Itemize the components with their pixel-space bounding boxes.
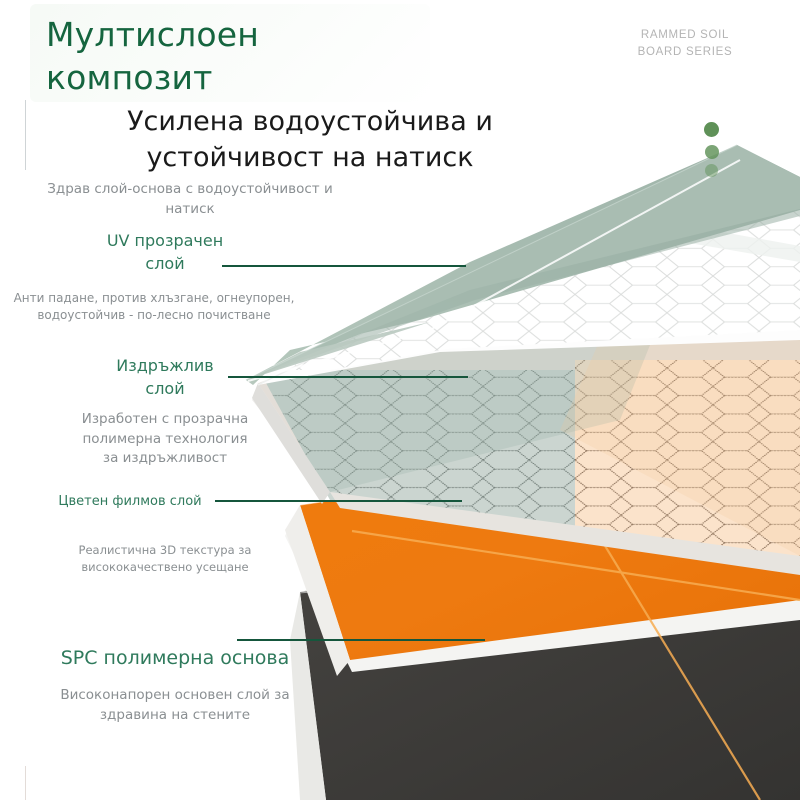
callout-wear-base-description: Здрав слой-основа с водоустойчивост и на…	[10, 180, 370, 219]
series-caption-line-1: RAMMED SOIL	[610, 27, 760, 44]
callout-uv-label: UV прозрачен слой	[20, 230, 310, 275]
poster-canvas: Мултислоен композит RAMMED SOIL BOARD SE…	[0, 0, 800, 800]
decor-dot-2	[705, 145, 719, 159]
durable-desc-line-2: полимерна технология	[20, 430, 310, 450]
color-film-desc-line-2: висококачествено усещане	[20, 559, 310, 576]
series-caption: RAMMED SOIL BOARD SERIES	[610, 27, 760, 60]
page-title-line-1: Мултислоен	[46, 14, 406, 57]
series-caption-line-2: BOARD SERIES	[610, 44, 760, 61]
page-subtitle-line-1: Усилена водоустойчива и	[40, 104, 580, 140]
callout-spc-label: SPC полимерна основа	[10, 645, 340, 672]
leader-line-durable	[228, 376, 468, 378]
color-film-desc-line-1: Реалистична 3D текстура за	[20, 542, 310, 559]
durable-desc-line-1: Изработен с прозрачна	[20, 410, 310, 430]
color-film-label-line-1: Цветен филмов слой	[10, 493, 250, 511]
spc-label-line-1: SPC полимерна основа	[10, 645, 340, 672]
decor-dot-3	[705, 164, 718, 177]
callout-durable-description: Изработен с прозрачна полимерна технолог…	[20, 410, 310, 469]
page-title-line-2: композит	[46, 57, 406, 100]
durable-desc-line-3: за издръжливост	[20, 449, 310, 469]
durable-label-line-1: Издръжлив	[20, 355, 310, 378]
decor-dot-1	[704, 122, 719, 137]
uv-desc-line-2: водоустойчив - по-лесно почистване	[4, 307, 304, 324]
uv-desc-line-1: Анти падане, против хлъзгане, огнеупорен…	[4, 290, 304, 307]
callout-color-film-label: Цветен филмов слой	[10, 493, 250, 511]
accent-rule-bottom	[25, 766, 26, 800]
callout-uv-description: Анти падане, против хлъзгане, огнеупорен…	[4, 290, 304, 325]
wear-base-desc-line-1: Здрав слой-основа с водоустойчивост и	[10, 180, 370, 200]
page-title: Мултислоен композит	[46, 14, 406, 100]
uv-label-line-1: UV прозрачен	[20, 230, 310, 253]
durable-label-line-2: слой	[20, 378, 310, 401]
page-subtitle: Усилена водоустойчива и устойчивост на н…	[40, 104, 580, 176]
spc-desc-line-2: здравина на стените	[10, 706, 340, 726]
spc-desc-line-1: Високонапорен основен слой за	[10, 686, 340, 706]
page-subtitle-line-2: устойчивост на натиск	[40, 140, 580, 176]
callout-color-film-description: Реалистична 3D текстура за висококачеств…	[20, 542, 310, 575]
leader-line-uv	[222, 265, 466, 267]
accent-rule-top	[25, 100, 26, 170]
wear-base-desc-line-2: натиск	[10, 200, 370, 220]
callout-spc-description: Високонапорен основен слой за здравина н…	[10, 686, 340, 725]
leader-line-color-film	[215, 500, 462, 502]
leader-line-spc	[237, 639, 485, 641]
